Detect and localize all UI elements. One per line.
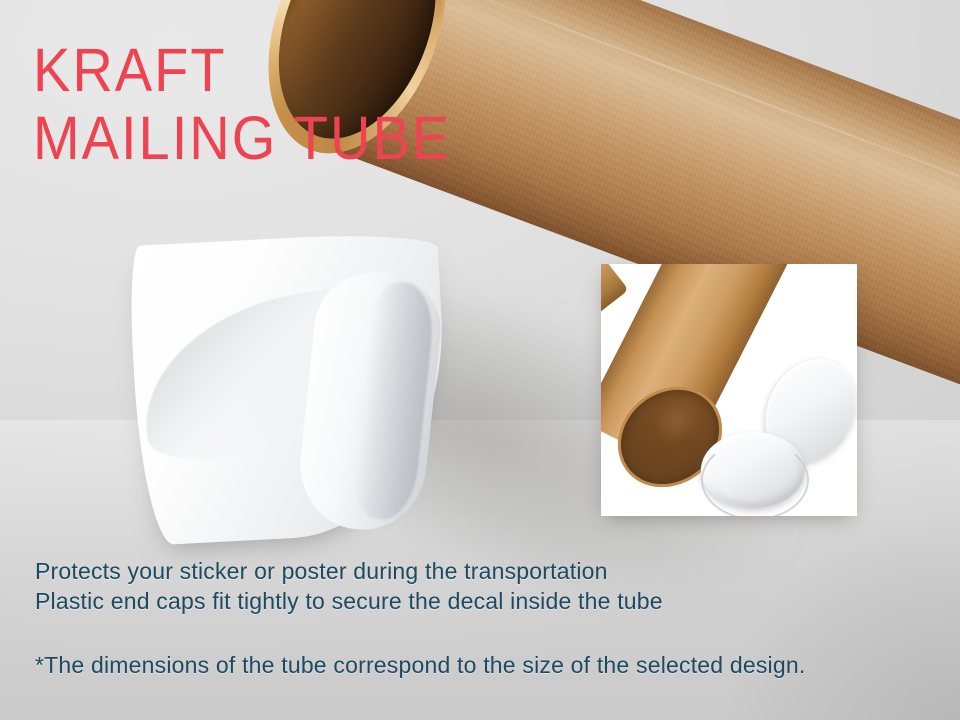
title-line-1: KRAFT — [33, 35, 227, 104]
title-line-2: MAILING TUBE — [33, 104, 451, 172]
poster-sheet-group — [135, 238, 445, 538]
inset-loose-end-cap-rim — [701, 440, 809, 516]
footnote-text: *The dimensions of the tube correspond t… — [35, 652, 805, 679]
feature-line-1: Protects your sticker or poster during t… — [35, 556, 663, 586]
feature-description: Protects your sticker or poster during t… — [35, 556, 663, 616]
product-promo-image: KRAFTMAILING TUBE Protects your sticker … — [0, 0, 960, 720]
inset-product-photo — [601, 264, 857, 516]
page-title: KRAFTMAILING TUBE — [33, 36, 451, 172]
feature-line-2: Plastic end caps fit tightly to secure t… — [35, 586, 663, 616]
